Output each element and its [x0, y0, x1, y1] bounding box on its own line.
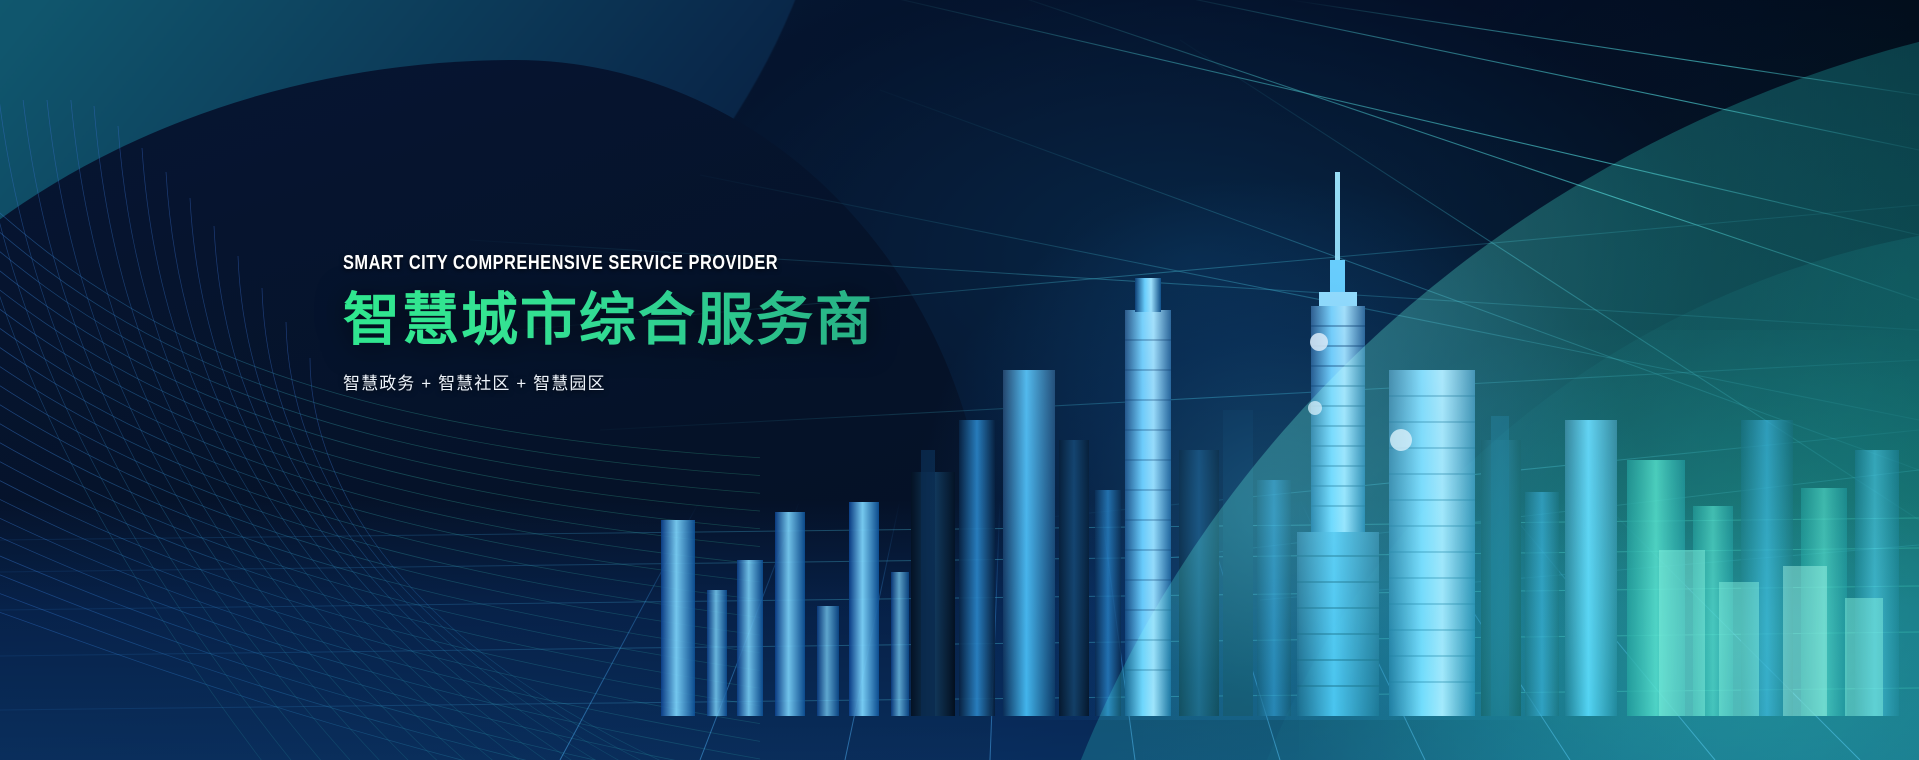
hero-copy: SMART CITY COMPREHENSIVE SERVICE PROVIDE…	[343, 253, 874, 394]
eyebrow-tagline: SMART CITY COMPREHENSIVE SERVICE PROVIDE…	[343, 253, 778, 273]
page-title: 智慧城市综合服务商	[343, 290, 874, 352]
smart-city-banner: SMART CITY COMPREHENSIVE SERVICE PROVIDE…	[0, 0, 1919, 760]
subtitle: 智慧政务 + 智慧社区 + 智慧园区	[343, 369, 874, 394]
